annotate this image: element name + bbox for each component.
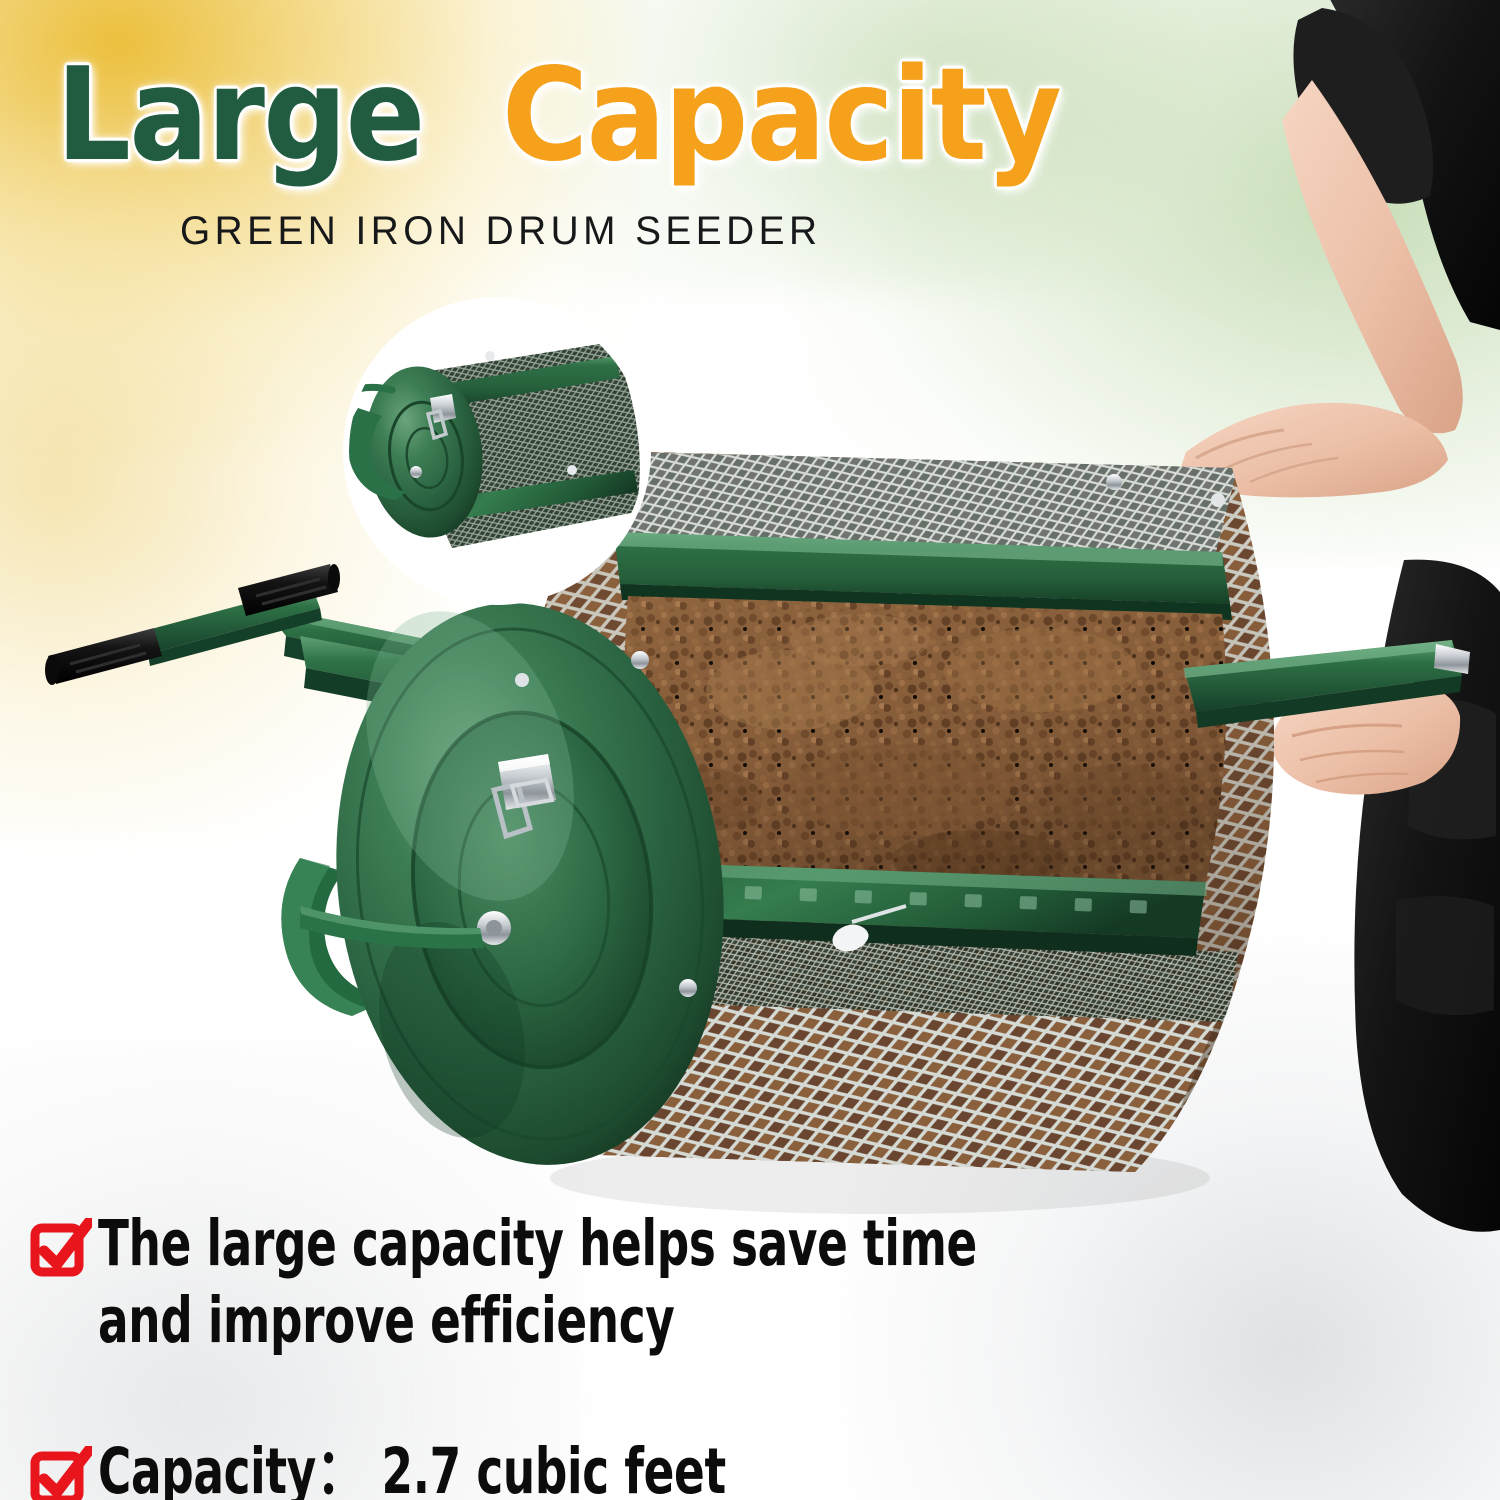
page-title: Large Capacity <box>56 52 1060 180</box>
list-item-label: The large capacity helps save time and i… <box>98 1206 1084 1360</box>
checkbox-checked-icon <box>30 1218 92 1280</box>
checkbox-checked-icon <box>30 1446 92 1500</box>
list-item: The large capacity helps save time and i… <box>30 1206 1330 1360</box>
title-word-capacity: Capacity <box>502 41 1060 190</box>
feature-list: The large capacity helps save time and i… <box>30 1206 1330 1500</box>
title-word-large: Large <box>56 41 424 190</box>
page-subtitle: GREEN IRON DRUM SEEDER <box>180 209 821 254</box>
list-item: Capacity： 2.7 cubic feet <box>30 1434 1330 1500</box>
product-feature-banner: Large Capacity GREEN IRON DRUM SEEDER Th… <box>0 0 1500 1500</box>
list-item-label: Capacity： 2.7 cubic feet <box>98 1434 1084 1500</box>
